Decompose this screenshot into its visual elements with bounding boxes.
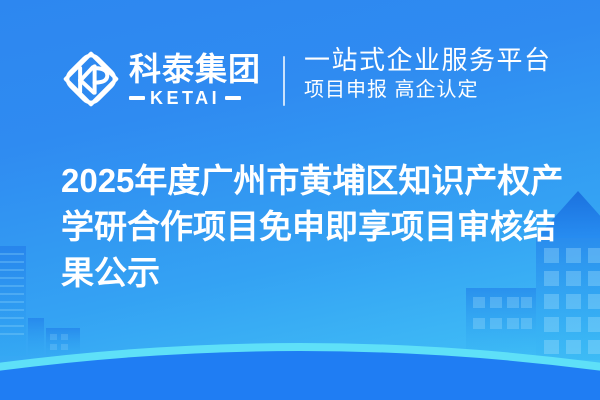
bottom-arc-band (0, 343, 600, 400)
building-right-mid-block (466, 288, 536, 358)
brand-header: 科泰集团 KETAI (62, 38, 261, 120)
tagline-main-text: 一站式企业服务平台 (304, 45, 552, 75)
logo-company-name-cn: 科泰集团 (129, 52, 261, 86)
publicity-banner: 科泰集团 KETAI 一站式企业服务平台 项目申报 高企认定 2025年度广州市… (0, 0, 600, 400)
tagline-sub-text: 项目申报 高企认定 (304, 78, 552, 102)
logo-dash-right-icon (225, 96, 241, 100)
logo-company-name-en-row: KETAI (129, 89, 261, 107)
building-left-skyscraper (0, 246, 26, 356)
building-left-low-block (28, 318, 80, 358)
logo-company-name-en: KETAI (150, 89, 220, 107)
logo-wordmark: 科泰集团 KETAI (129, 48, 261, 110)
brand-tagline: 一站式企业服务平台 项目申报 高企认定 (304, 45, 552, 102)
header-divider (283, 56, 285, 106)
ketai-logo-icon (62, 50, 120, 108)
logo-dash-left-icon (129, 96, 145, 100)
page-title: 2025年度广州市黄埔区知识产权产学研合作项目免申即享项目审核结果公示 (61, 158, 571, 296)
